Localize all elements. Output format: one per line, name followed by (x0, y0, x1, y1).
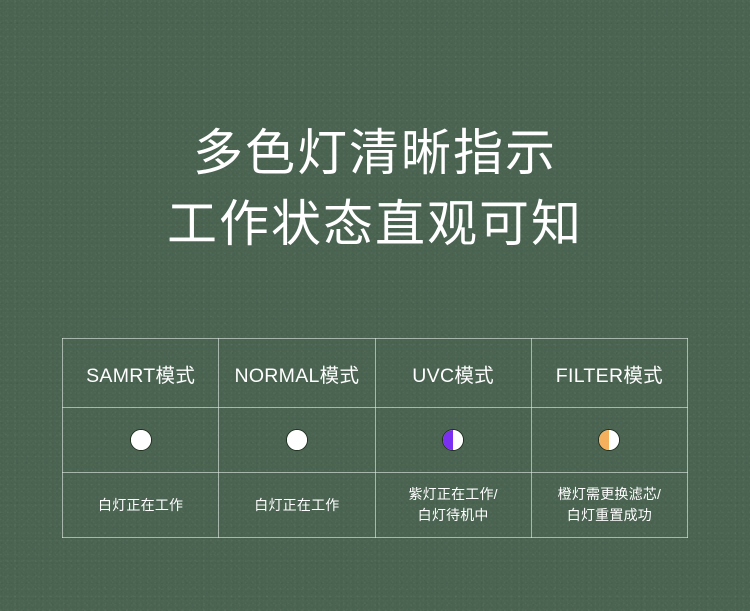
table-description-row: 白灯正在工作 白灯正在工作 紫灯正在工作/ 白灯待机中 橙灯需更换滤芯/ 白灯重… (63, 473, 688, 538)
page-headline: 多色灯清晰指示 工作状态直观可知 (0, 118, 750, 260)
light-half-left (443, 430, 453, 450)
light-cell-uvc (375, 408, 531, 473)
light-cell-filter (531, 408, 687, 473)
mode-indicator-table: SAMRT模式 NORMAL模式 UVC模式 FILTER模式 (62, 338, 688, 538)
headline-line-2: 工作状态直观可知 (0, 189, 750, 260)
light-wrap (63, 408, 218, 472)
light-wrap (532, 408, 687, 472)
desc-line-1: 橙灯需更换滤芯/ (532, 484, 687, 505)
light-half-left (287, 430, 297, 450)
table-header-row: SAMRT模式 NORMAL模式 UVC模式 FILTER模式 (63, 339, 688, 408)
desc-cell-smart: 白灯正在工作 (63, 473, 219, 538)
headline-line-1: 多色灯清晰指示 (0, 118, 750, 189)
mode-header-normal: NORMAL模式 (219, 339, 375, 408)
light-wrap (376, 408, 531, 472)
desc-line-2: 白灯重置成功 (532, 505, 687, 526)
desc-cell-normal: 白灯正在工作 (219, 473, 375, 538)
light-half-left (599, 430, 609, 450)
orange-white-indicator-light (598, 429, 620, 451)
white-indicator-light (130, 429, 152, 451)
light-half-right (141, 430, 151, 450)
desc-line-1: 白灯正在工作 (63, 495, 218, 516)
mode-header-smart: SAMRT模式 (63, 339, 219, 408)
desc-line-1: 紫灯正在工作/ (376, 484, 531, 505)
desc-cell-filter: 橙灯需更换滤芯/ 白灯重置成功 (531, 473, 687, 538)
white-indicator-light (286, 429, 308, 451)
light-wrap (219, 408, 374, 472)
desc-line-1: 白灯正在工作 (219, 495, 374, 516)
desc-cell-uvc: 紫灯正在工作/ 白灯待机中 (375, 473, 531, 538)
table-light-row (63, 408, 688, 473)
light-half-right (297, 430, 307, 450)
desc-line-2: 白灯待机中 (376, 505, 531, 526)
light-half-right (453, 430, 463, 450)
light-half-right (609, 430, 619, 450)
mode-header-filter: FILTER模式 (531, 339, 687, 408)
light-cell-smart (63, 408, 219, 473)
light-cell-normal (219, 408, 375, 473)
page-root: 多色灯清晰指示 工作状态直观可知 SAMRT模式 NORMAL模式 UVC模式 … (0, 0, 750, 611)
mode-header-uvc: UVC模式 (375, 339, 531, 408)
purple-white-indicator-light (442, 429, 464, 451)
light-half-left (131, 430, 141, 450)
